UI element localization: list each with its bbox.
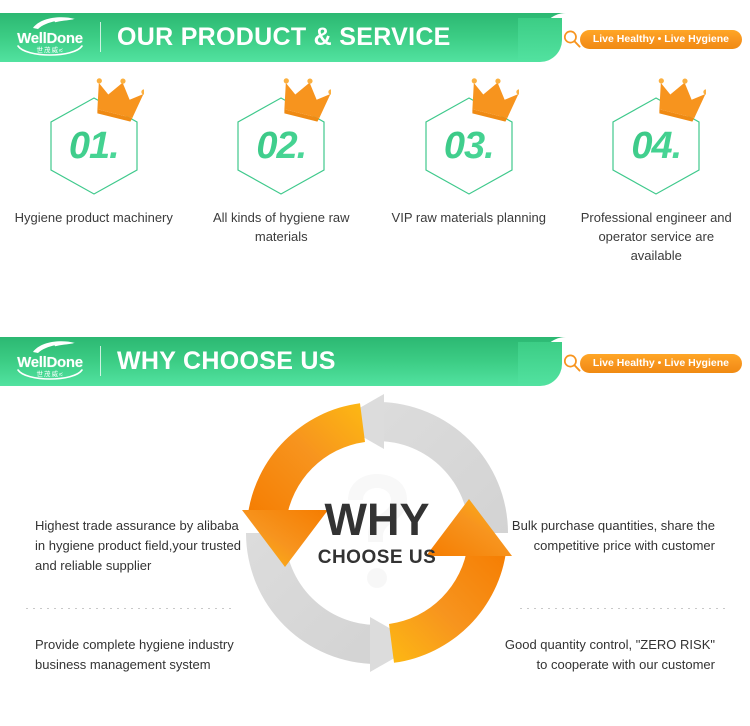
question-mark-watermark: [348, 474, 407, 588]
gray-arrow-top: [336, 394, 508, 533]
reason-bottom-left: Provide complete hygiene industry busine…: [35, 635, 250, 675]
crown-icon: [279, 78, 331, 124]
crown-icon: [92, 78, 144, 124]
crown-icon: [654, 78, 706, 124]
why-section-title: WHY CHOOSE US: [117, 347, 336, 375]
section-why-choose-us: WellDone 世茂威ನ WHY CHOOSE US Live Healthy…: [0, 324, 750, 726]
why-header-bar: WellDone 世茂威ನ WHY CHOOSE US Live Healthy…: [0, 324, 750, 386]
product-card[interactable]: 03. VIP raw materials planning: [375, 80, 563, 265]
crown-icon: [467, 78, 519, 124]
card-caption: VIP raw materials planning: [384, 208, 554, 227]
why-badge[interactable]: Live Healthy • Live Hygiene: [580, 354, 742, 373]
hexagon-badge: 01.: [39, 80, 149, 198]
reason-bottom-right: Good quantity control, "ZERO RISK" to co…: [500, 635, 715, 675]
reason-top-left: Highest trade assurance by alibaba in hy…: [35, 516, 250, 576]
card-caption: All kinds of hygiene raw materials: [196, 208, 366, 246]
product-section-title: OUR PRODUCT & SERVICE: [117, 23, 451, 51]
card-caption: Hygiene product machinery: [9, 208, 179, 227]
product-card[interactable]: 01. Hygiene product machinery: [0, 80, 188, 265]
product-badge[interactable]: Live Healthy • Live Hygiene: [580, 30, 742, 49]
header-divider: [100, 346, 101, 376]
page-root: WellDone 世茂威ನ OUR PRODUCT & SERVICE Live…: [0, 0, 750, 711]
logo-arc: [16, 44, 84, 60]
gray-arrow-bottom: [246, 533, 418, 672]
header-divider: [100, 22, 101, 52]
section-our-product-service: WellDone 世茂威ನ OUR PRODUCT & SERVICE Live…: [0, 0, 750, 265]
product-card-list: 01. Hygiene product machinery: [0, 80, 750, 265]
product-card[interactable]: 02. All kinds of hygiene raw materials: [188, 80, 376, 265]
hexagon-badge: 04.: [601, 80, 711, 198]
divider-right: [520, 608, 728, 609]
why-content: WHY CHOOSE US Highest trade assurance by…: [0, 386, 750, 726]
swoosh-icon: [32, 16, 76, 30]
brand-logo[interactable]: WellDone 世茂威ನ: [12, 341, 88, 383]
swoosh-icon: [32, 340, 76, 354]
logo-arc: [16, 368, 84, 384]
product-card[interactable]: 04. Professional engineer and operator s…: [563, 80, 750, 265]
brand-logo[interactable]: WellDone 世茂威ನ: [12, 17, 88, 59]
reason-top-right: Bulk purchase quantities, share the comp…: [500, 516, 715, 556]
circular-arrow-diagram: [232, 388, 522, 678]
hexagon-badge: 02.: [226, 80, 336, 198]
card-caption: Professional engineer and operator servi…: [571, 208, 741, 265]
hexagon-badge: 03.: [414, 80, 524, 198]
divider-left: [26, 608, 234, 609]
product-header-bar: WellDone 世茂威ನ OUR PRODUCT & SERVICE Live…: [0, 0, 750, 62]
